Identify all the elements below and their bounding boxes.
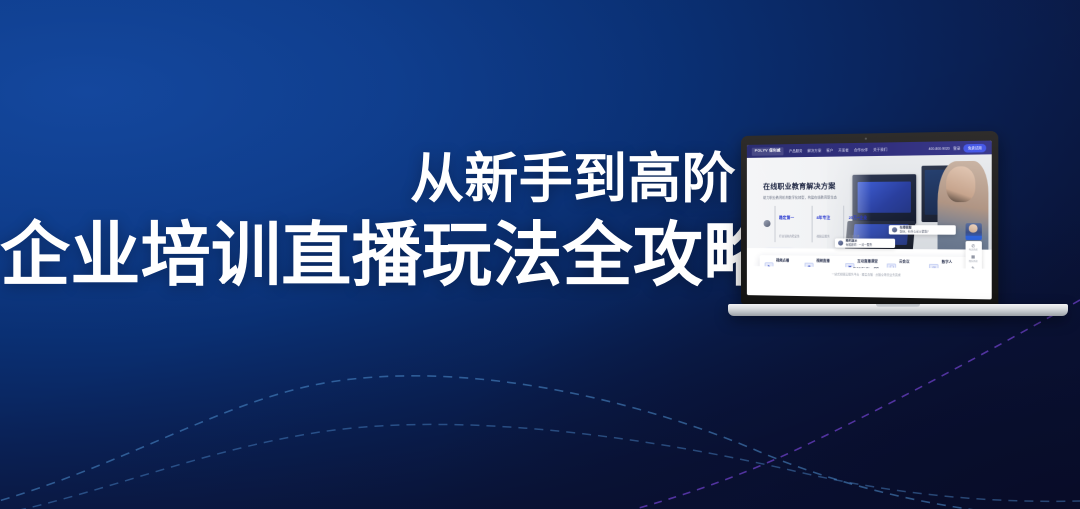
laptop-notch xyxy=(876,304,920,307)
hero-stat-1-label: 视频云服务 xyxy=(816,235,829,238)
hero-stat-2-value: 25万+企业 xyxy=(849,216,867,220)
edu-icon: ☉ xyxy=(929,263,939,268)
feature-card-2-title: 互动直播课堂 xyxy=(857,259,878,263)
curve-purple xyxy=(560,300,1080,509)
support-avatar-face-icon xyxy=(969,225,978,233)
feature-card-3-title: 云会议 xyxy=(899,259,909,263)
nav-item-1[interactable]: 解决方案 xyxy=(807,148,821,153)
chat-message-2-body: 专属顾问 · 一对一服务 xyxy=(846,244,873,247)
chat-message-1[interactable]: 在线客服 您好，有什么可以帮您？ xyxy=(889,225,956,234)
chat-message-1-text: 在线客服 您好，有什么可以帮您？ xyxy=(900,225,930,233)
curve-cyan-upper xyxy=(0,376,1080,509)
nav-item-2[interactable]: 客户 xyxy=(826,147,833,152)
nav-item-5[interactable]: 关于我们 xyxy=(873,147,887,152)
feature-card-4-title: 数字人 xyxy=(942,260,953,264)
chat-agent-avatar-2-icon xyxy=(838,240,843,245)
navbar-right: 400-800-9020 登录 免费试用 xyxy=(929,143,987,152)
hero-stat-1-value: 8年专注 xyxy=(816,216,830,220)
chat-agent-avatar-icon xyxy=(892,227,897,232)
feature-card-0[interactable]: ► 视频点播 海量存储 · 极速上传 xyxy=(765,248,805,269)
chat-message-1-title: 在线客服 xyxy=(900,225,930,229)
hero-subtitle: 助力职业教育机构数字化转型，构建在线教育新生态 xyxy=(763,194,873,200)
headline-line-1: 从新手到高阶 xyxy=(0,152,740,206)
nav-phone[interactable]: 400-800-9020 xyxy=(929,146,950,151)
hero-stat-0-value: 稳定第一 xyxy=(779,216,794,220)
hero-stat-0: 稳定第一 行业领先的稳定性 xyxy=(774,206,807,243)
hero-stat-2: 25万+企业 信赖选择 xyxy=(844,205,874,242)
laptop-mockup: POLYV 保利威 产品服务 解决方案 客户 开发者 合作伙伴 关于我们 400… xyxy=(728,136,1068,326)
hero-stats: 稳定第一 行业领先的稳定性 8年专注 视频云服务 25万+企业 信赖选择 xyxy=(763,205,873,242)
curve-cyan-lower xyxy=(0,424,1080,509)
photo-person-head xyxy=(946,166,975,203)
chat-message-2-text: 预约演示 专属顾问 · 一对一服务 xyxy=(846,239,873,247)
rail-item-0[interactable]: ✆ 电话咨询 xyxy=(965,242,981,253)
rail-item-1[interactable]: ▦ 微信咨询 xyxy=(965,253,981,264)
site-hero: 在线职业教育解决方案 助力职业教育机构数字化转型，构建在线教育新生态 稳定第一 … xyxy=(747,154,992,268)
hero-stat-1: 8年专注 视频云服务 xyxy=(811,205,839,242)
feature-card-1[interactable]: ◉ 视频直播 高并发 · 低延时 xyxy=(805,248,845,268)
nav-trial-button[interactable]: 免费试用 xyxy=(964,143,987,152)
stats-badge-icon xyxy=(763,220,770,227)
support-avatar[interactable] xyxy=(965,223,981,240)
nav-item-0[interactable]: 产品服务 xyxy=(789,148,803,153)
nav-item-3[interactable]: 开发者 xyxy=(838,147,848,152)
laptop-base xyxy=(728,304,1068,316)
laptop-screen: POLYV 保利威 产品服务 解决方案 客户 开发者 合作伙伴 关于我们 400… xyxy=(747,141,992,300)
chat-message-1-body: 您好，有什么可以帮您？ xyxy=(900,231,930,234)
products-subtitle: 一站式视频云服务平台 · 覆盖直播 · 点播全场景业务需求 xyxy=(747,271,992,278)
feature-card-2[interactable]: ▣ 互动直播课堂 实时互动 · 多端适配 xyxy=(845,249,886,269)
webcam-icon xyxy=(865,138,867,140)
laptop-lid: POLYV 保利威 产品服务 解决方案 客户 开发者 合作伙伴 关于我们 400… xyxy=(741,131,998,309)
chat-message-2-title: 预约演示 xyxy=(846,239,873,243)
laptop-shadow xyxy=(734,315,1062,322)
qrcode-icon: ▦ xyxy=(971,255,975,259)
side-rail: ✆ 电话咨询 ▦ 微信咨询 ✎ 文档中心 ▲ 回 xyxy=(965,241,981,269)
site-logo[interactable]: POLYV 保利威 xyxy=(752,147,784,156)
rail-item-0-label: 电话咨询 xyxy=(969,249,978,252)
feature-card-1-title: 视频直播 xyxy=(816,259,829,263)
phone-icon: ✆ xyxy=(971,244,975,248)
support-avatar-bar xyxy=(965,235,981,239)
nav-login[interactable]: 登录 xyxy=(953,145,960,150)
chat-message-2[interactable]: 预约演示 专属顾问 · 一对一服务 xyxy=(835,238,895,247)
headline-line-2: 企业培训直播玩法全攻略 xyxy=(0,220,740,290)
doc-icon: ✎ xyxy=(971,266,975,269)
nav-item-4[interactable]: 合作伙伴 xyxy=(854,147,868,152)
hero-title: 在线职业教育解决方案 xyxy=(763,181,873,192)
banner-headline: 从新手到高阶 企业培训直播玩法全攻略 xyxy=(0,152,740,290)
promo-banner: 从新手到高阶 企业培训直播玩法全攻略 POLYV 保利威 产品服务 解决方案 客… xyxy=(0,0,1080,509)
rail-item-1-label: 微信咨询 xyxy=(969,260,978,263)
rail-item-2[interactable]: ✎ 文档中心 xyxy=(965,264,981,268)
feature-card-0-title: 视频点播 xyxy=(776,258,789,262)
feature-card-3[interactable]: ☐ 云会议 多方协作 · 稳定流畅 xyxy=(887,249,929,269)
hero-stat-0-label: 行业领先的稳定性 xyxy=(779,235,800,238)
